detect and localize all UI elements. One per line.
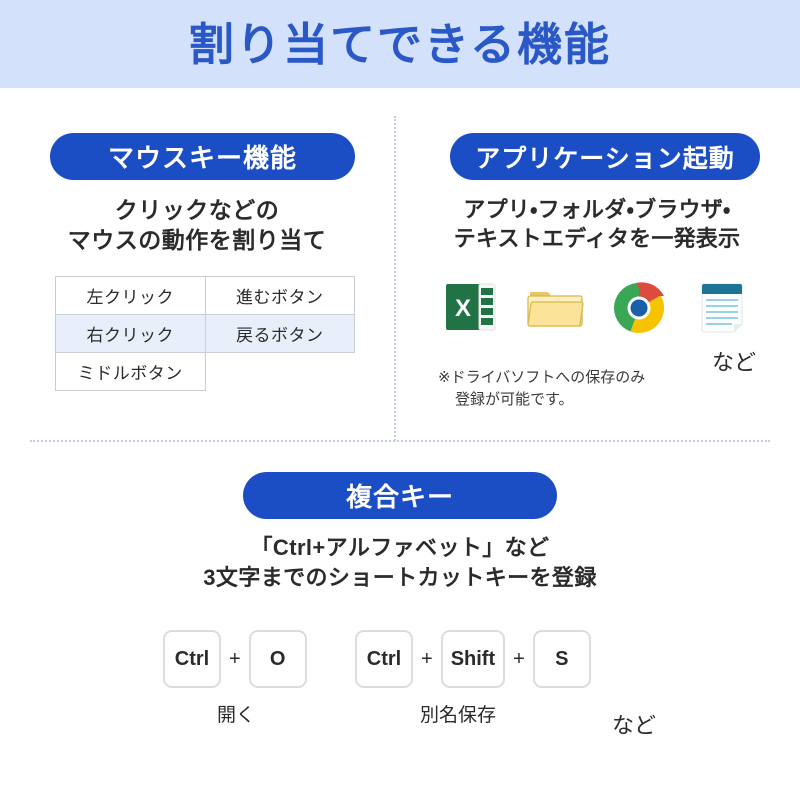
- shortcut-caption-open: 開く: [163, 700, 309, 727]
- table-cell-left: 右クリック: [56, 315, 206, 353]
- table-row: 左クリック 進むボタン: [56, 277, 355, 315]
- plus-separator: +: [221, 648, 249, 671]
- header-band: 割り当てできる機能: [0, 0, 800, 88]
- keycap: S: [533, 630, 591, 688]
- keycap: Ctrl: [163, 630, 221, 688]
- combo-etc-label: など: [612, 708, 656, 740]
- application-launch-description-line-2: テキストエディタを一発表示: [414, 224, 780, 253]
- folder-icon: [526, 278, 584, 338]
- table-cell-left: 左クリック: [56, 277, 206, 315]
- pill-combo-key: 複合キー: [243, 472, 557, 519]
- keycap: O: [249, 630, 307, 688]
- section-mouse-key: マウスキー機能 クリックなどの マウスの動作を割り当て 左クリック 進むボタン …: [0, 100, 394, 440]
- keycap: Shift: [441, 630, 505, 688]
- mouse-actions-table: 左クリック 進むボタン 右クリック 戻るボタン ミドルボタン: [55, 276, 355, 391]
- mouse-key-description-line-2: マウスの動作を割り当て: [0, 225, 394, 255]
- section-combo-key: 複合キー 「Ctrl+アルファベット」など 3文字までのショートカットキーを登録…: [0, 450, 800, 800]
- application-note-line-2: 登録が可能です。: [438, 389, 768, 411]
- application-note-line-1: ※ドライバソフトへの保存のみ: [438, 369, 645, 386]
- horizontal-divider: [30, 440, 770, 442]
- table-cell-right-empty: [205, 353, 355, 391]
- application-note: ※ドライバソフトへの保存のみ 登録が可能です。: [438, 367, 768, 411]
- application-launch-description: アプリ・フォルダ・ブラウザ・ テキストエディタを一発表示: [414, 195, 780, 253]
- table-cell-right: 進むボタン: [205, 277, 355, 315]
- combo-key-description-line-1: 「Ctrl+アルファベット」など: [0, 533, 800, 563]
- notepad-icon: [694, 278, 752, 338]
- shortcut-example-open: Ctrl + O: [163, 630, 307, 688]
- combo-key-description-line-2: 3文字までのショートカットキーを登録: [0, 563, 800, 593]
- table-cell-left: ミドルボタン: [56, 353, 206, 391]
- application-launch-description-line-1: アプリ・フォルダ・ブラウザ・: [414, 195, 780, 224]
- pill-application-launch: アプリケーション起動: [450, 133, 760, 180]
- application-icon-row: X: [442, 272, 742, 344]
- svg-text:X: X: [455, 295, 471, 322]
- plus-separator: +: [413, 648, 441, 671]
- table-row: ミドルボタン: [56, 353, 355, 391]
- plus-separator: +: [505, 648, 533, 671]
- excel-icon: X: [442, 278, 500, 338]
- mouse-key-description-line-1: クリックなどの: [0, 195, 394, 225]
- keycap: Ctrl: [355, 630, 413, 688]
- chrome-icon: [610, 278, 668, 338]
- pill-mouse-key: マウスキー機能: [50, 133, 355, 180]
- shortcut-examples: Ctrl + O 開く Ctrl + Shift + S 別名保存: [0, 630, 800, 750]
- section-application-launch: アプリケーション起動 アプリ・フォルダ・ブラウザ・ テキストエディタを一発表示 …: [394, 100, 800, 440]
- shortcut-caption-save-as: 別名保存: [355, 700, 561, 727]
- table-cell-right: 戻るボタン: [205, 315, 355, 353]
- infographic-page: 割り当てできる機能 マウスキー機能 クリックなどの マウスの動作を割り当て 左ク…: [0, 0, 800, 800]
- shortcut-example-save-as: Ctrl + Shift + S: [355, 630, 591, 688]
- table-row: 右クリック 戻るボタン: [56, 315, 355, 353]
- page-title: 割り当てできる機能: [189, 22, 611, 67]
- mouse-key-description: クリックなどの マウスの動作を割り当て: [0, 195, 394, 256]
- combo-key-description: 「Ctrl+アルファベット」など 3文字までのショートカットキーを登録: [0, 533, 800, 594]
